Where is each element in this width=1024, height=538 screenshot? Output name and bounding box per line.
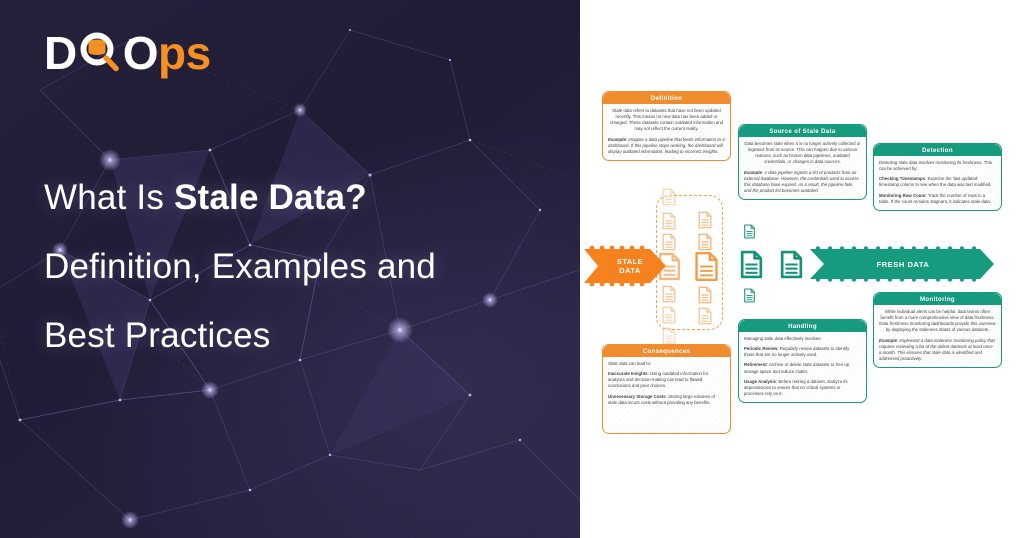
hero-panel: D O ps What Is Stale Data? Defin [0, 0, 580, 538]
title-line-2: Definition, Examples and [44, 249, 580, 284]
stale-document-icon [661, 327, 677, 345]
card-definition-body: Stale data refers to datasets that have … [603, 104, 730, 160]
title-line-1: What Is Stale Data? [44, 180, 580, 215]
card-detection-p2: Monitoring Row Count: Track the number o… [879, 193, 996, 205]
card-detection-body: Detecting stale data involves monitoring… [874, 156, 1001, 210]
card-consequences-p1-lead: Inaccurate Insights [608, 371, 648, 376]
card-definition-title: Definition [603, 92, 730, 104]
stale-document-icon [661, 212, 677, 230]
stale-document-icon [697, 233, 713, 251]
infographic-canvas: STALE DATA [580, 0, 1024, 538]
card-consequences-body: Stale data can lead to: Inaccurate Insig… [603, 357, 730, 433]
infographic-page: D O ps What Is Stale Data? Defin [0, 0, 1024, 538]
card-handling-p3: Usage Analysis: Before retiring a datase… [744, 379, 861, 397]
card-consequences-p2-lead: Unnecessary Storage Costs [608, 394, 666, 399]
stale-document-icon [697, 307, 713, 325]
card-definition-p1: Example: Imagine a data pipeline that fe… [608, 137, 725, 155]
card-handling: Handling Managing stale data effectively… [738, 319, 867, 403]
card-monitoring: Monitoring While individual alerts can b… [873, 292, 1002, 368]
card-monitoring-p1: Example: Implement a data staleness moni… [879, 338, 996, 363]
card-consequences-title: Consequences [603, 345, 730, 357]
card-handling-p3-lead: Usage Analysis [744, 379, 776, 384]
fresh-ribbon-label: FRESH DATA [877, 260, 930, 269]
card-consequences: Consequences Stale data can lead to: Ina… [602, 344, 731, 434]
card-detection-p1-lead: Checking Timestamps [879, 176, 925, 181]
card-detection-p2-lead: Monitoring Row Count [879, 193, 926, 198]
card-handling-title: Handling [739, 320, 866, 332]
logo-letter-o: O [123, 30, 158, 76]
card-definition: Definition Stale data refers to datasets… [602, 91, 731, 161]
infographic-panel: STALE DATA [580, 0, 1024, 538]
stale-ribbon-line-1: STALE [617, 257, 643, 266]
logo-letter-d: D [44, 30, 77, 76]
fresh-document-icon [743, 288, 756, 303]
stale-document-icon [661, 188, 677, 206]
stale-document-icon [661, 306, 677, 324]
card-monitoring-p1-lead: Example [879, 338, 897, 343]
card-detection-p1: Checking Timestamps: Examine the 'last u… [879, 176, 996, 188]
card-detection-title: Detection [874, 144, 1001, 156]
card-source-p0: Data becomes stale when it is no longer … [744, 141, 861, 166]
page-title: What Is Stale Data? Definition, Examples… [44, 180, 580, 353]
fresh-document-icon-large [739, 250, 764, 279]
card-source-body: Data becomes stale when it is no longer … [739, 137, 866, 199]
magnifier-database-icon [77, 30, 123, 76]
card-monitoring-body: While individual alerts can be helpful, … [874, 305, 1001, 367]
card-monitoring-title: Monitoring [874, 293, 1001, 305]
logo-letters-ps: ps [158, 30, 211, 76]
stale-document-icon [661, 285, 677, 303]
logo-wordmark: D O ps [44, 30, 211, 76]
card-source-of-stale-data: Source of Stale Data Data becomes stale … [738, 124, 867, 200]
card-monitoring-p1-text: : Implement a data staleness monitoring … [879, 338, 995, 361]
stale-document-icon-large [693, 251, 720, 282]
card-handling-p1-lead: Periodic Review [744, 346, 777, 351]
stale-document-icon [697, 211, 713, 229]
card-source-title: Source of Stale Data [739, 125, 866, 137]
card-definition-p1-lead: Example [608, 137, 626, 142]
stale-data-ribbon: STALE DATA [584, 245, 668, 287]
card-consequences-p0: Stale data can lead to: [608, 361, 725, 367]
title-line-1-prefix: What Is [44, 178, 174, 217]
fresh-document-icon-large [779, 250, 804, 279]
logo[interactable]: D O ps [44, 26, 580, 80]
card-handling-p2-lead: Retirement [744, 362, 767, 367]
fresh-document-icon [743, 224, 756, 239]
card-handling-p0: Managing stale data effectively involves… [744, 336, 861, 342]
title-line-1-bold: Stale Data? [174, 178, 367, 217]
card-source-p1-lead: Example [744, 170, 762, 175]
card-consequences-p1: Inaccurate Insights: Using outdated info… [608, 371, 725, 389]
card-source-p1-text: : A data pipeline ingests a list of prod… [744, 170, 859, 193]
card-definition-p0: Stale data refers to datasets that have … [608, 108, 725, 133]
stale-ribbon-line-2: DATA [617, 266, 643, 275]
fresh-data-ribbon: FRESH DATA [810, 246, 996, 282]
card-handling-p2: Retirement: Archive or delete stale data… [744, 362, 861, 374]
card-consequences-p2: Unnecessary Storage Costs: Storing large… [608, 394, 725, 406]
card-source-p1: Example: A data pipeline ingests a list … [744, 170, 861, 195]
card-definition-p1-text: : Imagine a data pipeline that feeds inf… [608, 137, 725, 154]
title-line-3: Best Practices [44, 318, 580, 353]
card-detection: Detection Detecting stale data involves … [873, 143, 1002, 211]
card-detection-p0: Detecting stale data involves monitoring… [879, 160, 996, 172]
card-handling-body: Managing stale data effectively involves… [739, 332, 866, 402]
card-handling-p1: Periodic Review: Regularly review datase… [744, 346, 861, 358]
card-monitoring-p0: While individual alerts can be helpful, … [879, 309, 996, 334]
stale-document-icon [697, 286, 713, 304]
